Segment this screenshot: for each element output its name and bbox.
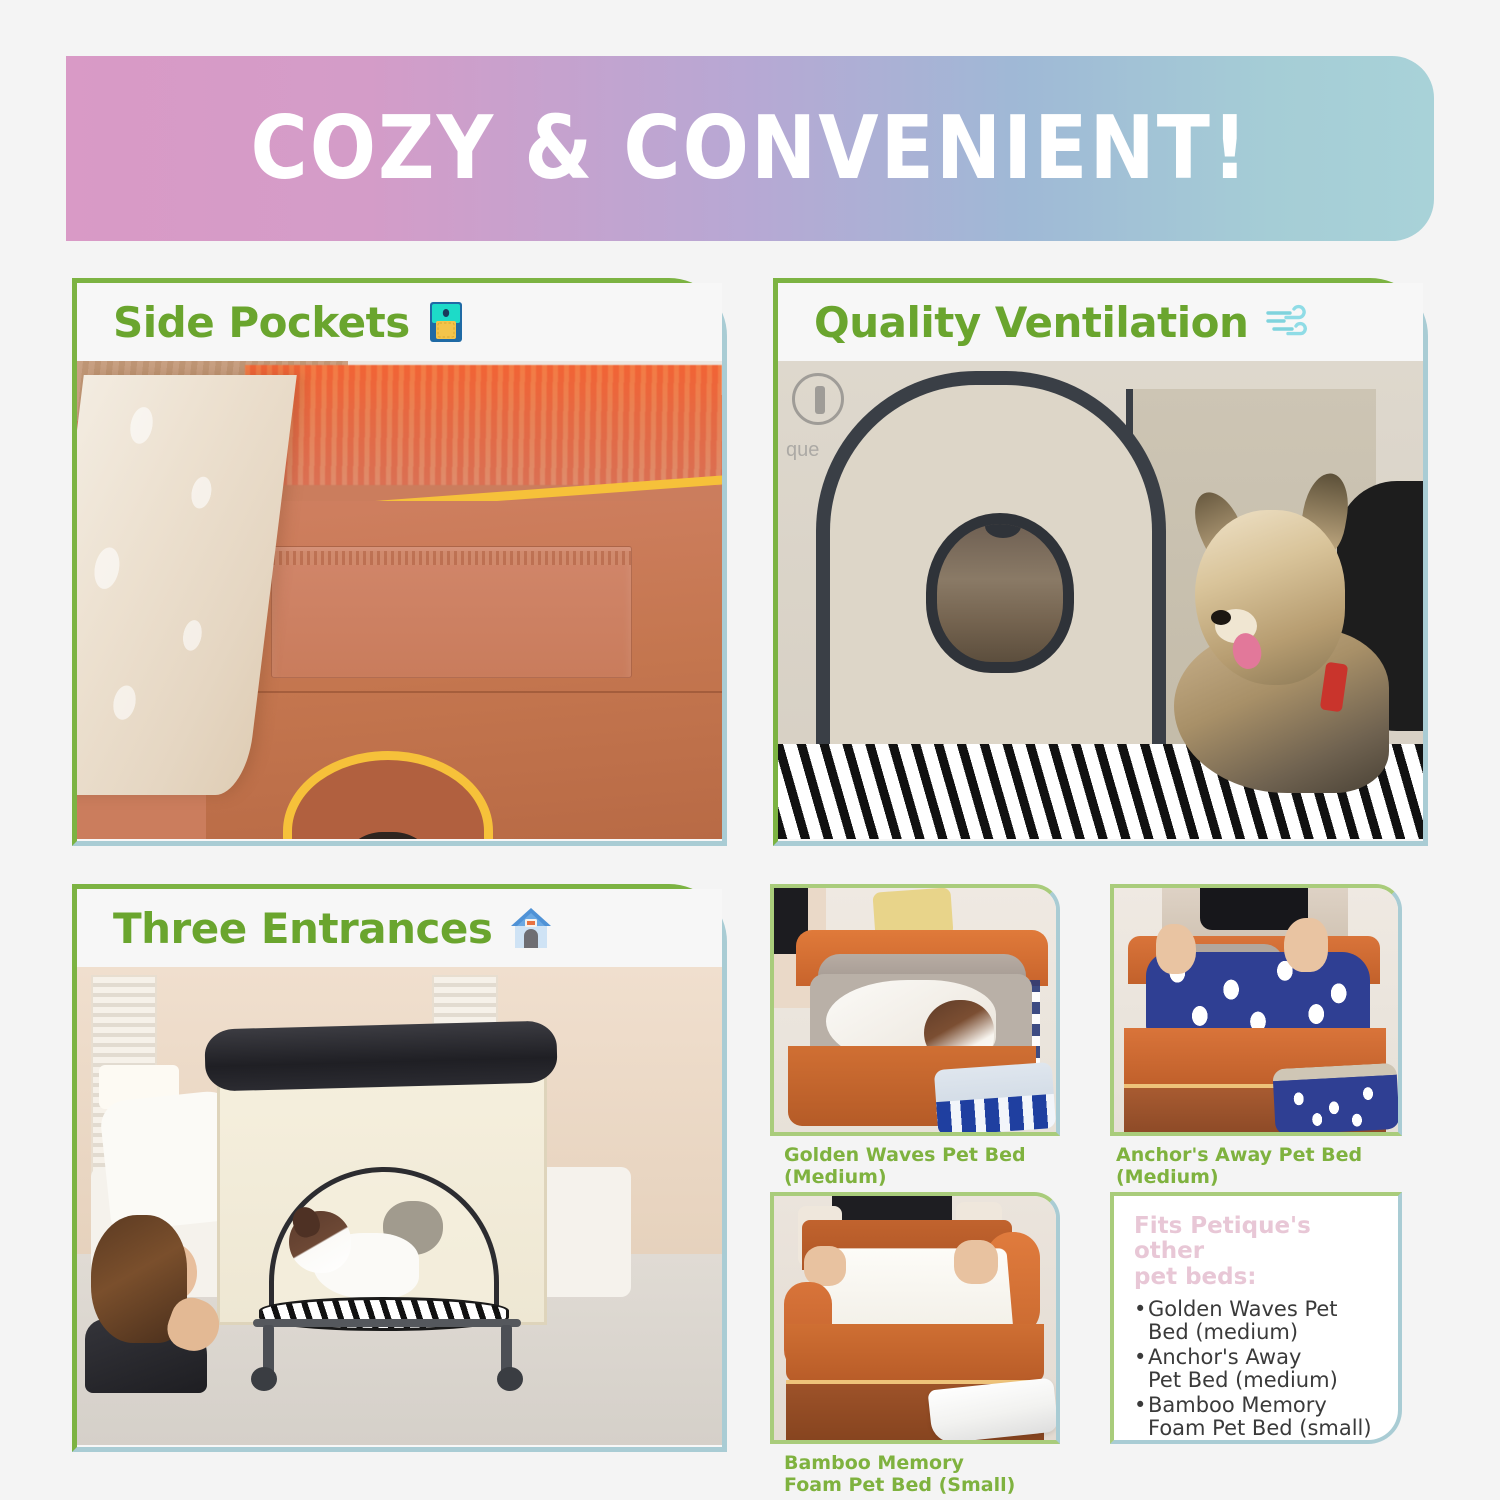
panel-header-ventilation: Quality Ventilation [778,283,1423,361]
product-photo-golden-waves [770,884,1060,1136]
panel-title-side-pockets: Side Pockets [113,298,410,347]
product-caption-bamboo-memory-foam: Bamboo Memory Foam Pet Bed (Small) [784,1452,1015,1497]
product-photo-bamboo-memory-foam [770,1192,1060,1444]
panel-header-side-pockets: Side Pockets [77,283,722,361]
fits-box-list: Golden Waves Pet Bed (medium) Anchor's A… [1134,1298,1384,1441]
petique-logo-text: que [786,439,819,462]
feature-panel-ventilation: Quality Ventilation que [773,278,1428,846]
feature-panel-side-pockets: Side Pockets [72,278,727,846]
thumbnail-anchors-away-bed [1272,1063,1399,1135]
photo-side-pockets [77,361,722,839]
thumbnail-golden-waves-bed [934,1062,1056,1136]
fits-other-beds-box: Fits Petique's other pet beds: Golden Wa… [1110,1192,1402,1444]
pocket-bag-icon [426,300,466,344]
product-caption-anchors-away: Anchor's Away Pet Bed (Medium) [1116,1144,1362,1189]
fits-list-item: Anchor's Away Pet Bed (medium) [1134,1346,1384,1393]
panel-title-ventilation: Quality Ventilation [814,298,1248,347]
fits-list-item: Golden Waves Pet Bed (medium) [1134,1298,1384,1345]
product-photo-anchors-away [1110,884,1402,1136]
page-title: COZY & CONVENIENT! [250,98,1249,199]
panel-header-three-entrances: Three Entrances [77,889,722,967]
fits-list-item: Bamboo Memory Foam Pet Bed (small) [1134,1394,1384,1441]
fits-box-heading: Fits Petique's other pet beds: [1134,1214,1384,1290]
panel-title-three-entrances: Three Entrances [113,904,492,953]
photo-three-entrances [77,967,722,1445]
feature-panel-three-entrances: Three Entrances [72,884,727,1452]
product-caption-golden-waves: Golden Waves Pet Bed (Medium) [784,1144,1026,1189]
petique-logo-icon [792,373,844,425]
photo-ventilation: que [778,361,1423,839]
dog-house-icon [508,905,554,951]
header-banner: COZY & CONVENIENT! [66,56,1434,241]
wind-icon [1264,302,1316,342]
